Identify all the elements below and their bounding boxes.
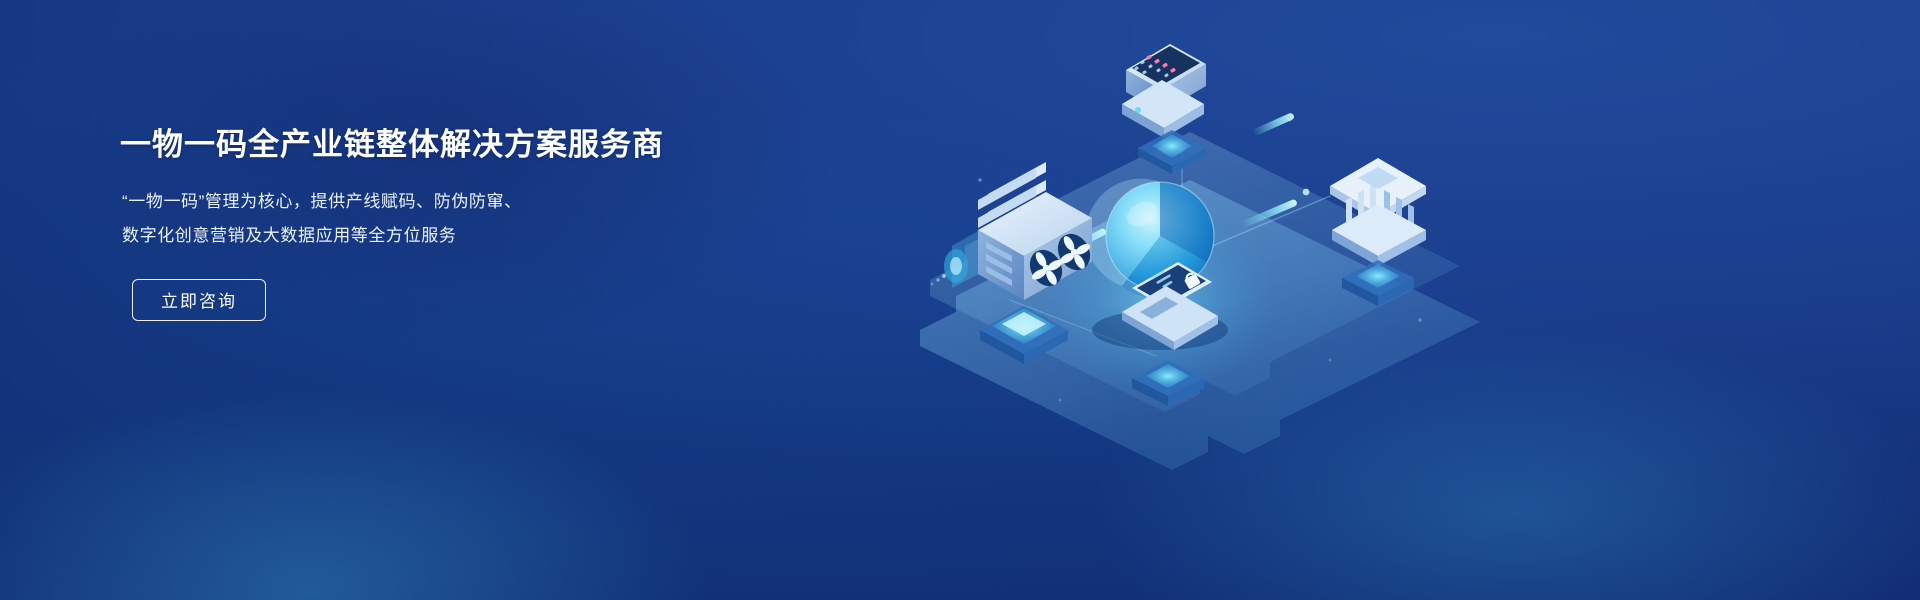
pos-terminal-icon <box>1122 44 1206 138</box>
hero-subtitle-line-1: “一物一码”管理为核心，提供产线赋码、防伪防窜、 <box>122 185 820 219</box>
consult-now-button[interactable]: 立即咨询 <box>132 279 266 321</box>
hero-banner: 一物一码全产业链整体解决方案服务商 “一物一码”管理为核心，提供产线赋码、防伪防… <box>0 0 1920 600</box>
hero-copy-block: 一物一码全产业链整体解决方案服务商 “一物一码”管理为核心，提供产线赋码、防伪防… <box>120 126 820 321</box>
background-glow-bottom-left <box>0 306 883 600</box>
hero-subtitle: “一物一码”管理为核心，提供产线赋码、防伪防窜、 数字化创意营销及大数据应用等全… <box>122 185 820 253</box>
page-title: 一物一码全产业链整体解决方案服务商 <box>120 126 820 165</box>
hero-subtitle-line-2: 数字化创意营销及大数据应用等全方位服务 <box>122 219 820 253</box>
hero-illustration <box>860 0 1540 600</box>
